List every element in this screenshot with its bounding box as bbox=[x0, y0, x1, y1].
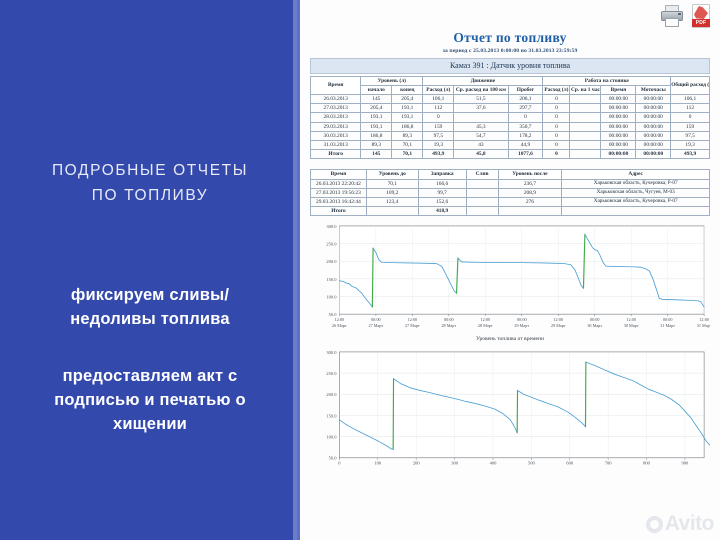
svg-text:150.0: 150.0 bbox=[326, 413, 337, 418]
events-cell bbox=[466, 207, 498, 216]
table-cell: 0 bbox=[543, 113, 570, 122]
table-cell: 0 bbox=[423, 113, 454, 122]
table-cell: 0 bbox=[543, 150, 570, 159]
table-cell: 193,1 bbox=[392, 113, 423, 122]
promo-feature-1-line2: недоливы топлива bbox=[0, 307, 300, 331]
table-cell: 112 bbox=[423, 104, 454, 113]
table-cell: 297,7 bbox=[508, 104, 543, 113]
events-cell bbox=[466, 179, 498, 188]
avito-watermark: Avito bbox=[646, 512, 714, 536]
events-cell: 152,6 bbox=[418, 197, 466, 206]
table-cell bbox=[570, 94, 601, 103]
table-cell: 70,1 bbox=[392, 150, 423, 159]
svg-text:00:00: 00:00 bbox=[663, 317, 673, 322]
svg-text:00:00: 00:00 bbox=[371, 317, 381, 322]
table-cell: 00:00:00 bbox=[636, 140, 671, 149]
table-cell: 493,9 bbox=[423, 150, 454, 159]
svg-text:100.0: 100.0 bbox=[326, 435, 337, 440]
table-cell: 205,4 bbox=[361, 104, 392, 113]
table-header-row: началоконецРасход (л)Ср. расход на 100 к… bbox=[311, 85, 710, 94]
events-cell: 26.03.2013 22:20:42 bbox=[311, 179, 367, 188]
svg-text:200.0: 200.0 bbox=[326, 260, 337, 265]
table-group-header-row: ВремяУровень (л)ДвижениеРабота на стоянк… bbox=[311, 76, 710, 85]
events-cell: Харьковская область, Чугуев, М-03 bbox=[562, 188, 710, 197]
events-cell: 236,7 bbox=[498, 179, 562, 188]
table-cell: 145 bbox=[361, 150, 392, 159]
table-cell bbox=[570, 150, 601, 159]
svg-text:0: 0 bbox=[338, 461, 341, 466]
table-cell: 193,1 bbox=[361, 113, 392, 122]
table-cell: 00:00:00 bbox=[601, 104, 636, 113]
group-movement: Движение bbox=[423, 76, 543, 85]
fuel-summary-table: ВремяУровень (л)ДвижениеРабота на стоянк… bbox=[310, 76, 710, 160]
col-9: Моточасы bbox=[636, 85, 671, 94]
events-cell: Харьковская область, Кучеровка, Р-07 bbox=[562, 179, 710, 188]
table-cell: 45,3 bbox=[454, 122, 508, 131]
promo-headline: ПОДРОБНЫЕ ОТЧЕТЫ ПО ТОПЛИВУ bbox=[0, 158, 300, 208]
table-cell: 00:00:00 bbox=[636, 131, 671, 140]
table-cell: 112 bbox=[671, 104, 710, 113]
svg-text:29 Март: 29 Март bbox=[514, 323, 529, 328]
svg-text:12:00: 12:00 bbox=[626, 317, 636, 322]
svg-text:200: 200 bbox=[413, 461, 421, 466]
svg-text:150.0: 150.0 bbox=[326, 277, 337, 282]
group-level: Уровень (л) bbox=[361, 76, 423, 85]
table-cell: 00:00:00 bbox=[636, 122, 671, 131]
table-cell: 70,1 bbox=[392, 140, 423, 149]
svg-text:00:00: 00:00 bbox=[444, 317, 454, 322]
svg-text:29 Март: 29 Март bbox=[551, 323, 566, 328]
table-cell: 1077,6 bbox=[508, 150, 543, 159]
events-cell: 27.03.2013 19:56:23 bbox=[311, 188, 367, 197]
table-cell: 89,3 bbox=[392, 131, 423, 140]
pdf-export-icon[interactable]: PDF bbox=[690, 4, 712, 28]
table-cell bbox=[570, 122, 601, 131]
events-total-row: Итого418,9 bbox=[311, 207, 710, 216]
table-cell: 0 bbox=[543, 131, 570, 140]
svg-text:12:00: 12:00 bbox=[335, 317, 345, 322]
table-cell bbox=[570, 140, 601, 149]
events-cell: 70,1 bbox=[366, 179, 418, 188]
events-col-2: Заправка bbox=[418, 170, 466, 179]
table-cell: 54,7 bbox=[454, 131, 508, 140]
table-cell: 0 bbox=[543, 94, 570, 103]
svg-text:300.0: 300.0 bbox=[326, 350, 337, 355]
col-3: Расход (л) bbox=[423, 85, 454, 94]
table-cell: 19,3 bbox=[423, 140, 454, 149]
fuel-level-distance-chart: 50.0100.0150.0200.0250.0300.001002003004… bbox=[310, 348, 710, 473]
col-5: Пробег bbox=[508, 85, 543, 94]
table-cell: 493,9 bbox=[671, 150, 710, 159]
table-cell: 106,1 bbox=[671, 94, 710, 103]
table-cell: 0 bbox=[543, 104, 570, 113]
svg-text:31 Март: 31 Март bbox=[697, 323, 710, 328]
table-cell: 193,1 bbox=[361, 122, 392, 131]
table-cell bbox=[570, 104, 601, 113]
table-cell: 30.03.2013 bbox=[311, 131, 361, 140]
table-cell: 43 bbox=[454, 140, 508, 149]
table-cell: 97,5 bbox=[671, 131, 710, 140]
svg-text:00:00: 00:00 bbox=[517, 317, 527, 322]
events-cell: 208,9 bbox=[498, 188, 562, 197]
events-row: 27.03.2013 19:56:23109,299,7208,9Харьков… bbox=[311, 188, 710, 197]
table-cell: 27.03.2013 bbox=[311, 104, 361, 113]
fuel-level-time-chart: 50.0100.0150.0200.0250.0300.012:0026 Мар… bbox=[310, 222, 710, 342]
printer-icon[interactable] bbox=[661, 4, 683, 28]
events-col-3: Слив bbox=[466, 170, 498, 179]
report-title: Отчет по топливу bbox=[306, 0, 714, 46]
table-row: 30.03.2013186,889,397,554,7178,2000:00:0… bbox=[311, 131, 710, 140]
events-cell bbox=[466, 188, 498, 197]
promo-feature-2: предоставляем акт с подписью и печатью о… bbox=[0, 364, 300, 436]
events-cell: Итого bbox=[311, 207, 367, 216]
col-4: Ср. расход на 100 км bbox=[454, 85, 508, 94]
table-cell: 37,6 bbox=[454, 104, 508, 113]
svg-text:28 Март: 28 Март bbox=[478, 323, 493, 328]
table-row: 27.03.2013205,4193,111237,6297,7000:00:0… bbox=[311, 104, 710, 113]
svg-text:30 Март: 30 Март bbox=[624, 323, 639, 328]
svg-text:00:00: 00:00 bbox=[590, 317, 600, 322]
table-cell: 00:00:00 bbox=[636, 150, 671, 159]
table-cell: 145 bbox=[361, 94, 392, 103]
events-col-0: Время bbox=[311, 170, 367, 179]
report-period-subtitle: за период с 25.03.2013 0:00:00 по 31.03.… bbox=[306, 48, 714, 54]
promo-headline-line2: ПО ТОПЛИВУ bbox=[0, 183, 300, 208]
promo-panel: ПОДРОБНЫЕ ОТЧЕТЫ ПО ТОПЛИВУ фиксируем сл… bbox=[0, 0, 300, 540]
table-cell: 89,3 bbox=[361, 140, 392, 149]
svg-text:27 Март: 27 Март bbox=[369, 323, 384, 328]
svg-text:100.0: 100.0 bbox=[326, 295, 337, 300]
svg-text:12:00: 12:00 bbox=[481, 317, 491, 322]
svg-text:800: 800 bbox=[643, 461, 651, 466]
table-cell: 0 bbox=[671, 113, 710, 122]
events-col-5: Адрес bbox=[562, 170, 710, 179]
events-row: 26.03.2013 22:20:4270,1166,6236,7Харьков… bbox=[311, 179, 710, 188]
table-cell: 00:00:00 bbox=[601, 94, 636, 103]
events-cell: 418,9 bbox=[418, 207, 466, 216]
svg-text:26 Март: 26 Март bbox=[332, 323, 347, 328]
panel-edge-stripe bbox=[293, 0, 297, 540]
group-parking: Работа на стоянке bbox=[543, 76, 671, 85]
svg-text:50.0: 50.0 bbox=[329, 456, 338, 461]
table-cell: 159 bbox=[423, 122, 454, 131]
events-col-1: Уровень до bbox=[366, 170, 418, 179]
table-cell: 45,8 bbox=[454, 150, 508, 159]
svg-text:700: 700 bbox=[605, 461, 613, 466]
events-cell bbox=[562, 207, 710, 216]
events-cell: 99,7 bbox=[418, 188, 466, 197]
events-cell: Харьковская область, Кучеровка, Р-07 bbox=[562, 197, 710, 206]
table-spacer bbox=[306, 159, 714, 167]
table-cell: 44,9 bbox=[508, 140, 543, 149]
table-cell: 178,2 bbox=[508, 131, 543, 140]
table-cell: 193,1 bbox=[392, 104, 423, 113]
table-cell: 51,5 bbox=[454, 94, 508, 103]
svg-text:250.0: 250.0 bbox=[326, 242, 337, 247]
svg-text:250.0: 250.0 bbox=[326, 371, 337, 376]
events-cell: 109,2 bbox=[366, 188, 418, 197]
table-cell: 00:00:00 bbox=[601, 113, 636, 122]
table-cell: 00:00:00 bbox=[601, 150, 636, 159]
col-time: Время bbox=[311, 76, 361, 94]
table-cell bbox=[570, 131, 601, 140]
device-name-bar: Камаз 391 : Датчик уровня топлива bbox=[310, 58, 710, 74]
table-cell: 00:00:00 bbox=[601, 122, 636, 131]
table-cell: 206,1 bbox=[508, 94, 543, 103]
table-cell: 00:00:00 bbox=[601, 140, 636, 149]
events-cell: 166,6 bbox=[418, 179, 466, 188]
avito-watermark-text: Avito bbox=[665, 512, 714, 535]
svg-text:12:00: 12:00 bbox=[553, 317, 563, 322]
promo-feature-1: фиксируем сливы/ недоливы топлива bbox=[0, 283, 300, 331]
col-2: конец bbox=[392, 85, 423, 94]
table-cell: 0 bbox=[543, 122, 570, 131]
pdf-icon-label: PDF bbox=[692, 19, 710, 27]
table-cell: 0 bbox=[508, 113, 543, 122]
events-row: 29.03.2013 16:42:44123,4152,6276Харьковс… bbox=[311, 197, 710, 206]
promo-feature-2-line1: предоставляем акт с bbox=[0, 364, 300, 388]
col-1: начало bbox=[361, 85, 392, 94]
svg-text:12:00: 12:00 bbox=[699, 317, 709, 322]
svg-text:100: 100 bbox=[374, 461, 382, 466]
fuel-events-table: ВремяУровень доЗаправкаСливУровень после… bbox=[310, 169, 710, 216]
svg-text:27 Март: 27 Март bbox=[405, 323, 420, 328]
table-cell: 19,3 bbox=[671, 140, 710, 149]
chart-caption-0: Уровень топлива от времени bbox=[310, 336, 710, 342]
events-header-row: ВремяУровень доЗаправкаСливУровень после… bbox=[311, 170, 710, 179]
table-cell: 205,4 bbox=[392, 94, 423, 103]
events-col-4: Уровень после bbox=[498, 170, 562, 179]
table-cell: 31.03.2013 bbox=[311, 140, 361, 149]
report-toolbar: PDF bbox=[661, 4, 712, 28]
table-cell: 28.03.2013 bbox=[311, 113, 361, 122]
table-cell: Итого bbox=[311, 150, 361, 159]
table-cell: 0 bbox=[543, 140, 570, 149]
table-cell: 00:00:00 bbox=[636, 113, 671, 122]
table-cell: 29.03.2013 bbox=[311, 122, 361, 131]
table-cell: 00:00:00 bbox=[601, 131, 636, 140]
svg-text:300.0: 300.0 bbox=[326, 224, 337, 229]
fuel-level-distance-chart-svg: 50.0100.0150.0200.0250.0300.001002003004… bbox=[310, 348, 710, 473]
events-cell: 123,4 bbox=[366, 197, 418, 206]
table-row: 29.03.2013193,1186,815945,3350,7000:00:0… bbox=[311, 122, 710, 131]
table-cell: 00:00:00 bbox=[636, 104, 671, 113]
promo-feature-2-line2: подписью и печатью о bbox=[0, 388, 300, 412]
table-cell: 186,8 bbox=[392, 122, 423, 131]
svg-text:400: 400 bbox=[490, 461, 498, 466]
promo-feature-1-line1: фиксируем сливы/ bbox=[0, 283, 300, 307]
svg-text:600: 600 bbox=[566, 461, 574, 466]
events-cell: 276 bbox=[498, 197, 562, 206]
svg-text:28 Март: 28 Март bbox=[441, 323, 456, 328]
svg-text:12:00: 12:00 bbox=[408, 317, 418, 322]
svg-text:300: 300 bbox=[451, 461, 459, 466]
table-cell: 186,8 bbox=[361, 131, 392, 140]
events-cell bbox=[366, 207, 418, 216]
table-cell: 159 bbox=[671, 122, 710, 131]
table-row: 28.03.2013193,1193,100000:00:0000:00:000 bbox=[311, 113, 710, 122]
fuel-report-panel: PDF Отчет по топливу за период с 25.03.2… bbox=[300, 0, 720, 540]
fuel-level-time-chart-svg: 50.0100.0150.0200.0250.0300.012:0026 Мар… bbox=[310, 222, 710, 338]
events-cell bbox=[498, 207, 562, 216]
col-total-consumption: Общий расход (л) bbox=[671, 76, 710, 94]
svg-text:30 Март: 30 Март bbox=[587, 323, 602, 328]
table-total-row: Итого14570,1493,945,81077,6000:00:0000:0… bbox=[311, 150, 710, 159]
table-cell: 26.03.2013 bbox=[311, 94, 361, 103]
slide-root: ПОДРОБНЫЕ ОТЧЕТЫ ПО ТОПЛИВУ фиксируем сл… bbox=[0, 0, 720, 540]
table-row: 26.03.2013145205,4106,151,5206,1000:00:0… bbox=[311, 94, 710, 103]
col-7: Ср. на 1 час bbox=[570, 85, 601, 94]
svg-text:31 Март: 31 Март bbox=[660, 323, 675, 328]
table-cell: 00:00:00 bbox=[636, 94, 671, 103]
svg-text:900: 900 bbox=[682, 461, 690, 466]
table-cell bbox=[454, 113, 508, 122]
svg-text:500: 500 bbox=[528, 461, 536, 466]
table-cell: 106,1 bbox=[423, 94, 454, 103]
table-row: 31.03.201389,370,119,34344,9000:00:0000:… bbox=[311, 140, 710, 149]
table-cell: 350,7 bbox=[508, 122, 543, 131]
col-6: Расход (л) bbox=[543, 85, 570, 94]
events-cell: 29.03.2013 16:42:44 bbox=[311, 197, 367, 206]
table-cell: 97,5 bbox=[423, 131, 454, 140]
table-cell bbox=[570, 113, 601, 122]
events-cell bbox=[466, 197, 498, 206]
svg-text:200.0: 200.0 bbox=[326, 392, 337, 397]
col-8: Время bbox=[601, 85, 636, 94]
promo-feature-2-line3: хищении bbox=[0, 412, 300, 436]
promo-headline-line1: ПОДРОБНЫЕ ОТЧЕТЫ bbox=[52, 162, 248, 179]
